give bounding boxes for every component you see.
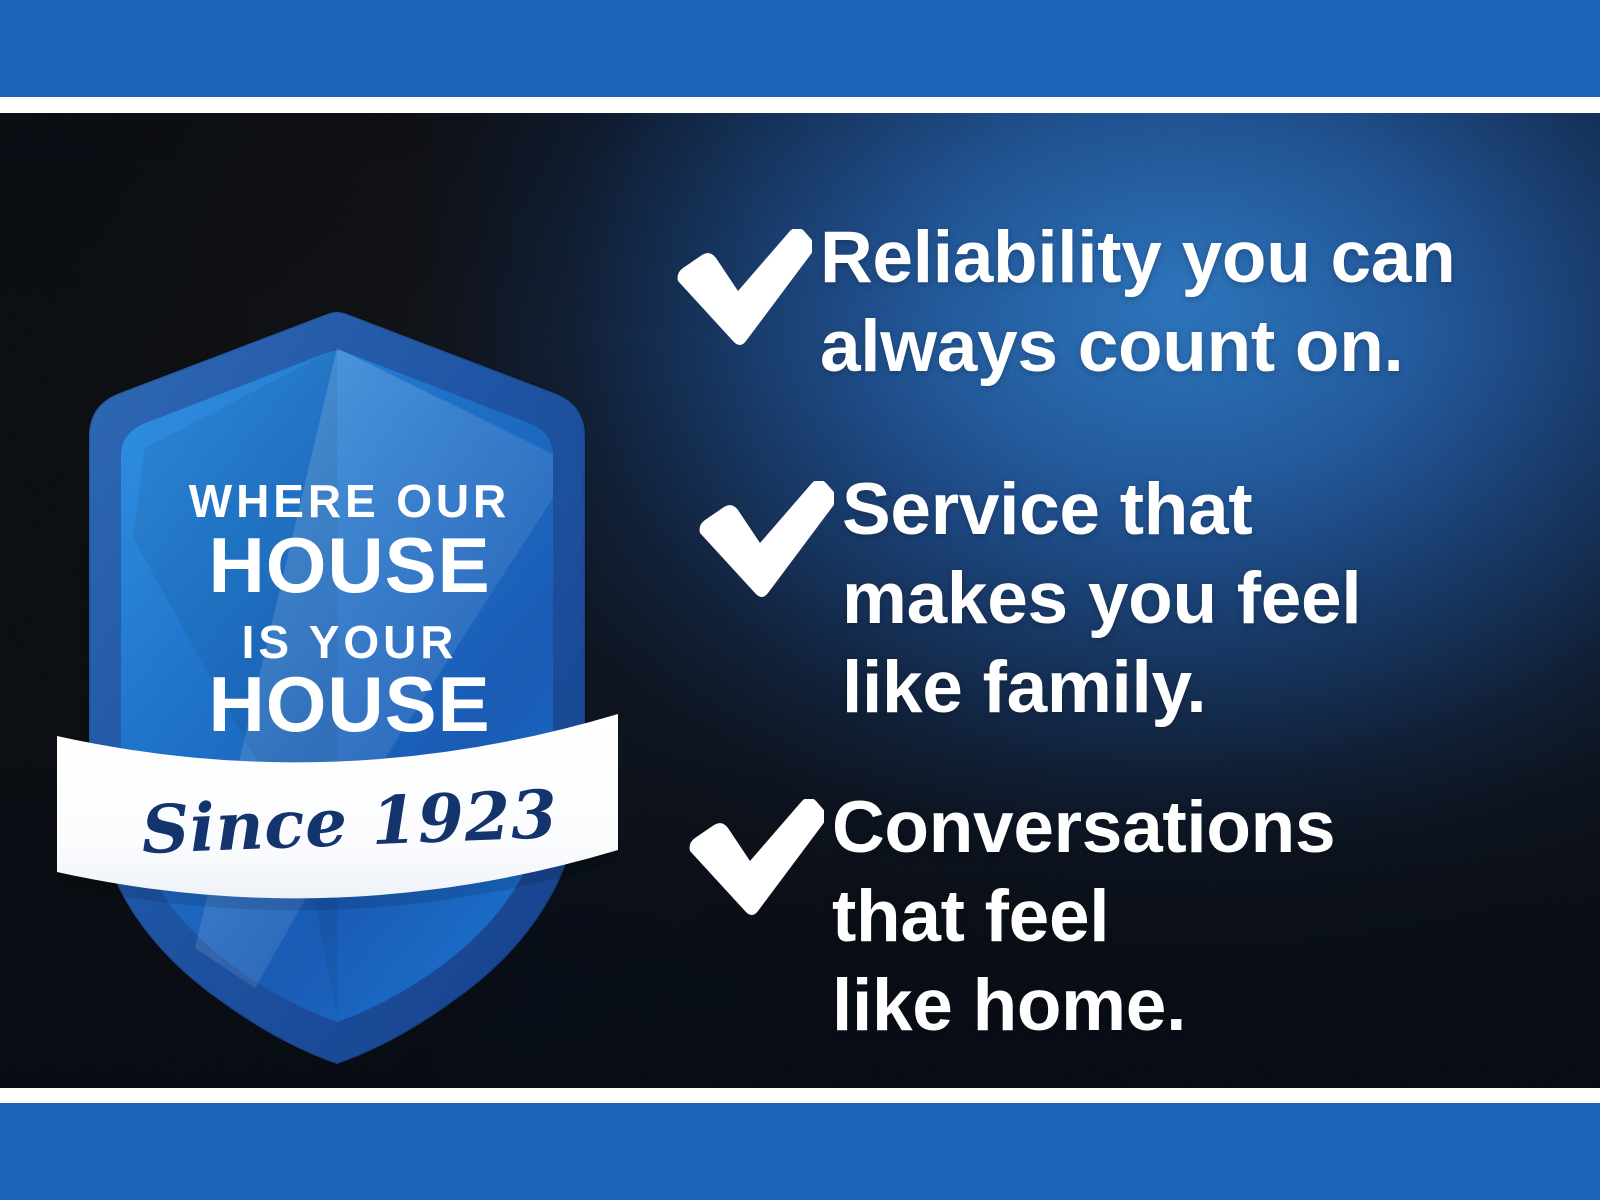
promo-poster: Where Our House Is Your House Since 1923… xyxy=(0,0,1600,1200)
badge-line-2: House xyxy=(67,526,632,604)
list-item-label: Service that makes you feel like family. xyxy=(842,465,1361,732)
shield-badge: Where Our House Is Your House Since 1923 xyxy=(55,288,620,1068)
list-item-label: Reliability you can always count on. xyxy=(820,213,1455,391)
badge-line-1: Where Our xyxy=(67,474,632,528)
checkmark-icon xyxy=(672,229,820,347)
checkmark-icon xyxy=(684,799,832,917)
bottom-brand-bar xyxy=(0,1103,1600,1200)
list-item: Service that makes you feel like family. xyxy=(694,465,1361,732)
main-stage: Where Our House Is Your House Since 1923… xyxy=(0,113,1600,1088)
top-brand-bar xyxy=(0,0,1600,97)
checkmark-icon xyxy=(694,481,842,599)
badge-line-4: House xyxy=(67,665,632,743)
list-item: Reliability you can always count on. xyxy=(672,213,1455,391)
list-item-label: Conversations that feel like home. xyxy=(832,783,1335,1050)
list-item: Conversations that feel like home. xyxy=(684,783,1335,1050)
